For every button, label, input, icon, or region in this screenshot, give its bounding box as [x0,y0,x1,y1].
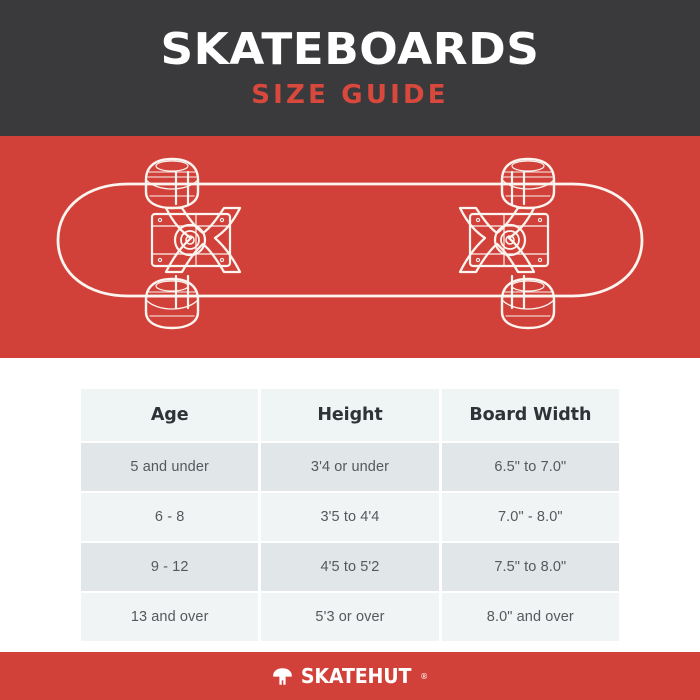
right-bottom-wheel [502,279,554,328]
table-row: 9 - 12 4'5 to 5'2 7.5" to 8.0" [81,543,619,591]
page-subtitle: SIZE GUIDE [251,81,449,109]
table-body: 5 and under 3'4 or under 6.5" to 7.0" 6 … [81,443,619,641]
brand-name: SKATEHUT [301,664,411,688]
table-header-row: Age Height Board Width [81,389,619,441]
skateboard-illustration [0,136,700,358]
header-banner: SKATEBOARDS SIZE GUIDE [0,0,700,136]
cell-age: 6 - 8 [81,493,258,541]
cell-height: 4'5 to 5'2 [261,543,438,591]
left-bottom-wheel [146,279,198,328]
page-title: SKATEBOARDS [161,27,540,73]
brand-logo: SKATEHUT ® [272,664,428,688]
cell-height: 5'3 or over [261,593,438,641]
infographic-page: SKATEBOARDS SIZE GUIDE [0,0,700,700]
cell-board-width: 6.5" to 7.0" [442,443,619,491]
hut-icon [272,667,293,686]
cell-age: 13 and over [81,593,258,641]
cell-height: 3'5 to 4'4 [261,493,438,541]
cell-board-width: 7.5" to 8.0" [442,543,619,591]
table-row: 6 - 8 3'5 to 4'4 7.0" - 8.0" [81,493,619,541]
registered-trademark-mark: ® [420,672,428,681]
table-row: 13 and over 5'3 or over 8.0" and over [81,593,619,641]
column-header-board-width: Board Width [442,389,619,441]
cell-board-width: 8.0" and over [442,593,619,641]
column-header-height: Height [261,389,438,441]
cell-age: 9 - 12 [81,543,258,591]
table-header: Age Height Board Width [81,389,619,441]
cell-board-width: 7.0" - 8.0" [442,493,619,541]
footer-banner: SKATEHUT ® [0,652,700,700]
column-header-age: Age [81,389,258,441]
size-guide-table-container: Age Height Board Width 5 and under 3'4 o… [78,387,622,635]
table-row: 5 and under 3'4 or under 6.5" to 7.0" [81,443,619,491]
cell-height: 3'4 or under [261,443,438,491]
deck-outline [58,184,642,296]
hero-banner [0,136,700,358]
size-guide-table: Age Height Board Width 5 and under 3'4 o… [78,387,622,643]
cell-age: 5 and under [81,443,258,491]
